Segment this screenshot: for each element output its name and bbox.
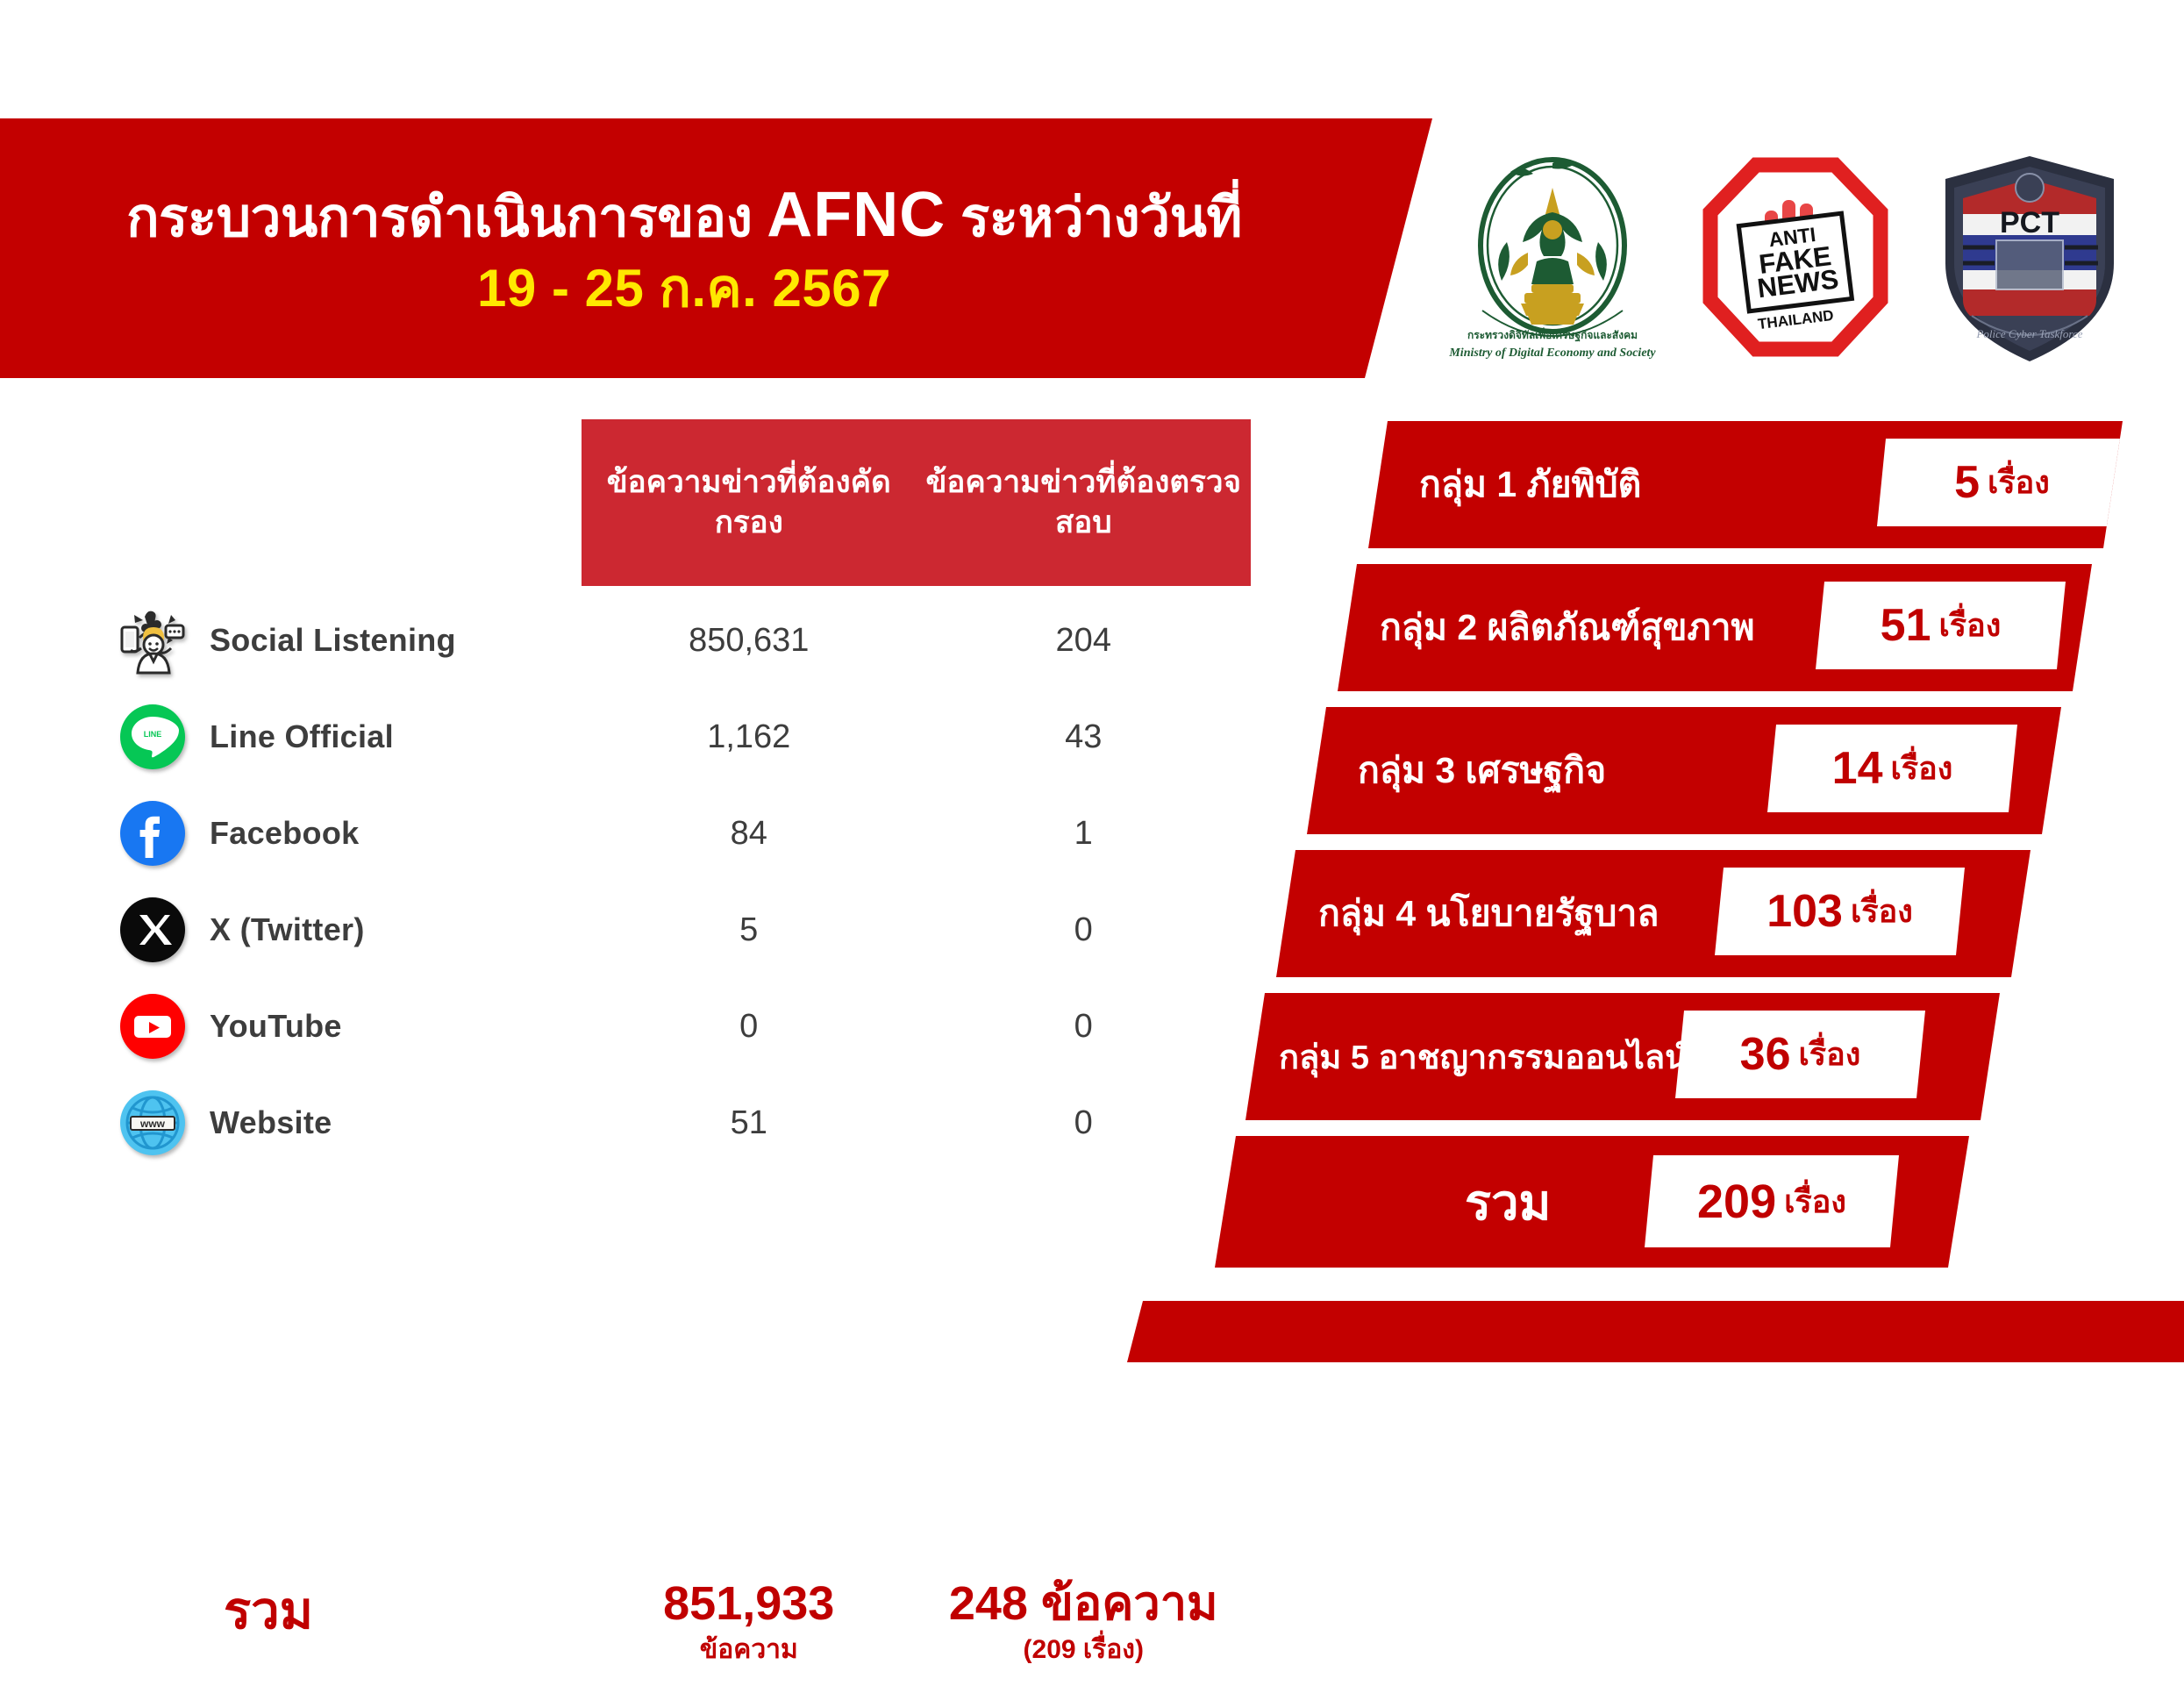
platform-label: Facebook xyxy=(210,815,359,852)
column-header-screened: ข้อความข่าวที่ต้องคัดกรอง xyxy=(582,419,917,586)
group-bar-4: กลุ่ม 4 นโยบายรัฐบาล 103 เรื่อง xyxy=(1276,850,2031,977)
x-twitter-icon xyxy=(118,896,187,964)
mdes-logo-label-th: กระทรวงดิจิทัลเพื่อเศรษฐกิจและสังคม xyxy=(1467,327,1638,342)
group-value-box-2: 51 เรื่อง xyxy=(1816,582,2066,669)
table-total-verified-unit: (209 เรื่อง) xyxy=(917,1632,1252,1667)
group-value-1: 5 xyxy=(1954,460,1980,505)
cell-verified: 0 xyxy=(917,1008,1252,1046)
table-total-screened-unit: ข้อความ xyxy=(582,1632,917,1667)
platform-label: YouTube xyxy=(210,1008,342,1045)
group-value-box-4: 103 เรื่อง xyxy=(1715,868,1965,955)
group-label-3: กลุ่ม 3 เศรษฐกิจ xyxy=(1358,742,1606,799)
facebook-icon xyxy=(118,799,187,868)
table-row: www Website 51 0 xyxy=(0,1075,1298,1171)
group-value-box-1: 5 เรื่อง xyxy=(1877,439,2127,526)
group-value-2: 51 xyxy=(1881,603,1931,648)
logo-row: กระทรวงดิจิทัลเพื่อเศรษฐกิจและสังคม Mini… xyxy=(1438,132,2184,386)
group-label-1: กลุ่ม 1 ภัยพิบัติ xyxy=(1419,456,1641,513)
cell-verified: 1 xyxy=(917,815,1252,853)
cell-screened: 0 xyxy=(582,1008,917,1046)
table-total-verified: 248 ข้อความ (209 เรื่อง) xyxy=(917,1579,1252,1667)
platform-label: X (Twitter) xyxy=(210,911,365,948)
table-row: X (Twitter) 5 0 xyxy=(0,882,1298,978)
cell-screened: 850,631 xyxy=(582,622,917,660)
cell-verified: 0 xyxy=(917,1104,1252,1142)
anti-fake-news-logo: ANTI FAKE NEWS THAILAND xyxy=(1695,149,1896,368)
row-platform-cell: YouTube xyxy=(0,992,582,1061)
header-banner-text: กระบวนการดำเนินการของ AFNC ระหว่างวันที่… xyxy=(0,118,1368,378)
table-body: Social Listening 850,631 204 LINE xyxy=(0,592,1298,1171)
group-value-5: 36 xyxy=(1740,1032,1791,1077)
platform-label: Website xyxy=(210,1104,332,1141)
group-total-unit: เรื่อง xyxy=(1784,1186,1846,1218)
group-value-box-5: 36 เรื่อง xyxy=(1675,1011,1925,1098)
group-label-4: กลุ่ม 4 นโยบายรัฐบาล xyxy=(1318,885,1659,942)
group-bar-5: กลุ่ม 5 อาชญากรรมออนไลน์ 36 เรื่อง xyxy=(1245,993,2000,1120)
table-total-verified-value: 248 ข้อความ xyxy=(917,1579,1252,1629)
header-banner: กระบวนการดำเนินการของ AFNC ระหว่างวันที่… xyxy=(0,118,1438,378)
group-bar-3: กลุ่ม 3 เศรษฐกิจ 14 เรื่อง xyxy=(1307,707,2061,834)
pct-label: PCT xyxy=(2000,206,2059,239)
group-unit-1: เรื่อง xyxy=(1988,467,2050,498)
svg-text:LINE: LINE xyxy=(144,730,162,739)
page-title: กระบวนการดำเนินการของ AFNC ระหว่างวันที่ xyxy=(126,179,1242,252)
group-unit-4: เรื่อง xyxy=(1851,896,1913,927)
table-row: YouTube 0 0 xyxy=(0,978,1298,1075)
cell-screened: 51 xyxy=(582,1104,917,1142)
group-total-value-box: 209 เรื่อง xyxy=(1645,1155,1899,1247)
platform-table: ข้อความข่าวที่ต้องคัดกรอง ข้อความข่าวที่… xyxy=(0,412,1298,1289)
cell-screened: 84 xyxy=(582,815,917,853)
pct-label-sub: Police Cyber Taskforce xyxy=(1975,327,2082,340)
cell-screened: 1,162 xyxy=(582,718,917,756)
table-row: LINE Line Official 1,162 43 xyxy=(0,689,1298,785)
website-icon: www xyxy=(118,1089,187,1157)
cell-screened: 5 xyxy=(582,911,917,949)
group-value-box-3: 14 เรื่อง xyxy=(1767,725,2017,812)
column-header-verified: ข้อความข่าวที่ต้องตรวจสอบ xyxy=(917,419,1252,586)
group-unit-2: เรื่อง xyxy=(1939,610,2002,641)
row-platform-cell: LINE Line Official xyxy=(0,703,582,771)
cell-verified: 204 xyxy=(917,622,1252,660)
social-listening-icon xyxy=(118,606,187,675)
group-total-value: 209 xyxy=(1697,1178,1776,1225)
table-header-row: ข้อความข่าวที่ต้องคัดกรอง ข้อความข่าวที่… xyxy=(582,419,1251,586)
title-afnc: AFNC xyxy=(767,180,946,250)
platform-label: Line Official xyxy=(210,718,394,755)
group-total-label: รวม xyxy=(1465,1163,1551,1241)
decorative-bottom-bar xyxy=(1127,1301,2184,1362)
table-total-screened-value: 851,933 xyxy=(582,1579,917,1629)
group-label-5: กลุ่ม 5 อาชญากรรมออนไลน์ xyxy=(1279,1030,1688,1083)
platform-label: Social Listening xyxy=(210,622,456,659)
group-total-bar: รวม 209 เรื่อง xyxy=(1215,1136,1969,1268)
group-value-3: 14 xyxy=(1832,746,1883,791)
group-unit-5: เรื่อง xyxy=(1799,1039,1861,1070)
title-prefix: กระบวนการดำเนินการของ xyxy=(126,188,767,248)
infographic-canvas: กระบวนการดำเนินการของ AFNC ระหว่างวันที่… xyxy=(0,0,2184,1456)
group-bar-2: กลุ่ม 2 ผลิตภัณฑ์สุขภาพ 51 เรื่อง xyxy=(1338,564,2092,691)
cell-verified: 0 xyxy=(917,911,1252,949)
mdes-ministry-logo: กระทรวงดิจิทัลเพื่อเศรษฐกิจและสังคม Mini… xyxy=(1447,149,1658,368)
table-row: Social Listening 850,631 204 xyxy=(0,592,1298,689)
table-total-row: รวม 851,933 ข้อความ 248 ข้อความ (209 เรื… xyxy=(0,1579,1298,1693)
row-platform-cell: Social Listening xyxy=(0,606,582,675)
mdes-logo-label-en: Ministry of Digital Economy and Society xyxy=(1448,346,1656,360)
group-bar-1: กลุ่ม 1 ภัยพิบัติ 5 เรื่อง xyxy=(1368,421,2123,548)
date-range: 19 - 25 ก.ค. 2567 xyxy=(477,260,891,318)
group-value-4: 103 xyxy=(1766,889,1843,934)
table-total-screened: 851,933 ข้อความ xyxy=(582,1579,917,1667)
row-platform-cell: X (Twitter) xyxy=(0,896,582,964)
line-icon: LINE xyxy=(118,703,187,771)
row-platform-cell: Facebook xyxy=(0,799,582,868)
table-total-label: รวม xyxy=(0,1579,582,1637)
table-row: Facebook 84 1 xyxy=(0,785,1298,882)
youtube-icon xyxy=(118,992,187,1061)
group-unit-3: เรื่อง xyxy=(1891,753,1953,784)
title-suffix: ระหว่างวันที่ xyxy=(946,188,1242,248)
cell-verified: 43 xyxy=(917,718,1252,756)
pct-police-logo: PCT Police Cyber Taskforce xyxy=(1933,149,2126,368)
svg-text:www: www xyxy=(139,1118,166,1130)
row-platform-cell: www Website xyxy=(0,1089,582,1157)
group-summary-panel: กลุ่ม 1 ภัยพิบัติ 5 เรื่อง กลุ่ม 2 ผลิตภ… xyxy=(1245,421,2184,1307)
group-label-2: กลุ่ม 2 ผลิตภัณฑ์สุขภาพ xyxy=(1380,599,1755,656)
